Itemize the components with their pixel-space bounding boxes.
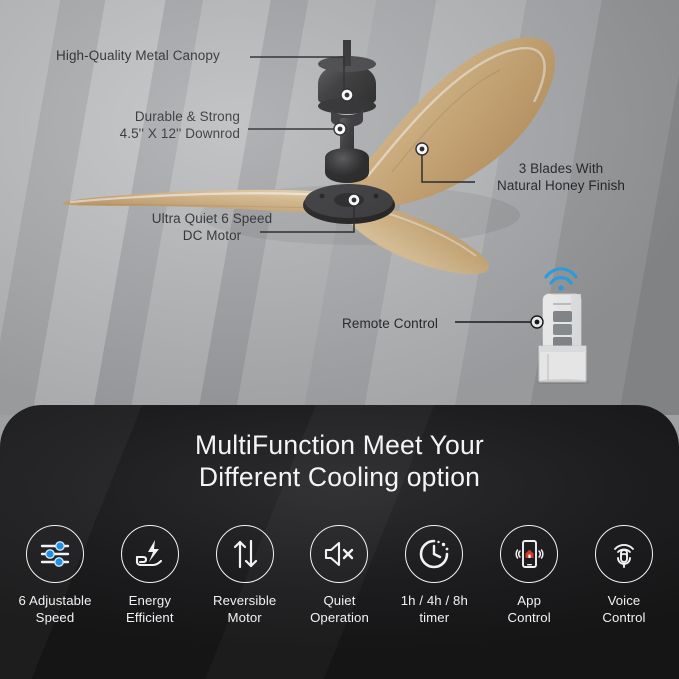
- callout-label-canopy: High-Quality Metal Canopy: [56, 47, 220, 64]
- sliders-icon-circle: [26, 525, 84, 583]
- speaker-mute-icon-circle: [310, 525, 368, 583]
- sliders-icon: [38, 537, 72, 571]
- product-photo: High-Quality Metal Canopy Durable & Stro…: [0, 0, 679, 415]
- up-down-arrows-icon-circle: [216, 525, 274, 583]
- microphone-icon: [607, 537, 641, 571]
- feature-label: App Control: [508, 592, 551, 626]
- features-panel: MultiFunction Meet Your Different Coolin…: [0, 405, 679, 679]
- feature-label: 1h / 4h / 8h timer: [401, 592, 468, 626]
- callout-label-blades: 3 Blades With Natural Honey Finish: [466, 160, 656, 195]
- timer-clock-icon-circle: [405, 525, 463, 583]
- wifi-signal-icon: [546, 269, 576, 283]
- microphone-icon-circle: [595, 525, 653, 583]
- wifi-dot-icon: [558, 285, 563, 290]
- up-down-arrows-icon: [228, 537, 262, 571]
- feature-reversible-motor[interactable]: Reversible Motor: [198, 525, 292, 626]
- hand-lightning-icon-circle: [121, 525, 179, 583]
- feature-label: Reversible Motor: [213, 592, 276, 626]
- speaker-mute-icon: [322, 537, 356, 571]
- features-row: 6 Adjustable Speed Energy Efficient: [8, 525, 671, 626]
- feature-voice-control[interactable]: Voice Control: [577, 525, 671, 626]
- panel-headline: MultiFunction Meet Your Different Coolin…: [0, 429, 679, 494]
- phone-home-icon-circle: [500, 525, 558, 583]
- product-infographic: High-Quality Metal Canopy Durable & Stro…: [0, 0, 679, 679]
- hand-lightning-icon: [133, 537, 167, 571]
- feature-timer[interactable]: 1h / 4h / 8h timer: [387, 525, 481, 626]
- callout-label-motor: Ultra Quiet 6 Speed DC Motor: [112, 210, 312, 245]
- feature-label: Energy Efficient: [126, 592, 174, 626]
- feature-adjustable-speed[interactable]: 6 Adjustable Speed: [8, 525, 102, 626]
- feature-energy-efficient[interactable]: Energy Efficient: [103, 525, 197, 626]
- feature-app-control[interactable]: App Control: [482, 525, 576, 626]
- callout-label-downrod: Durable & Strong 4.5'' X 12'' Downrod: [50, 108, 240, 143]
- callout-label-remote: Remote Control: [342, 315, 438, 332]
- remote-control-illustration: [527, 258, 603, 384]
- feature-label: Quiet Operation: [310, 592, 369, 626]
- fan-motor-top: [325, 148, 369, 183]
- timer-clock-icon: [417, 537, 451, 571]
- feature-label: 6 Adjustable Speed: [18, 592, 91, 626]
- feature-label: Voice Control: [602, 592, 645, 626]
- feature-quiet-operation[interactable]: Quiet Operation: [292, 525, 386, 626]
- phone-home-icon: [512, 537, 546, 571]
